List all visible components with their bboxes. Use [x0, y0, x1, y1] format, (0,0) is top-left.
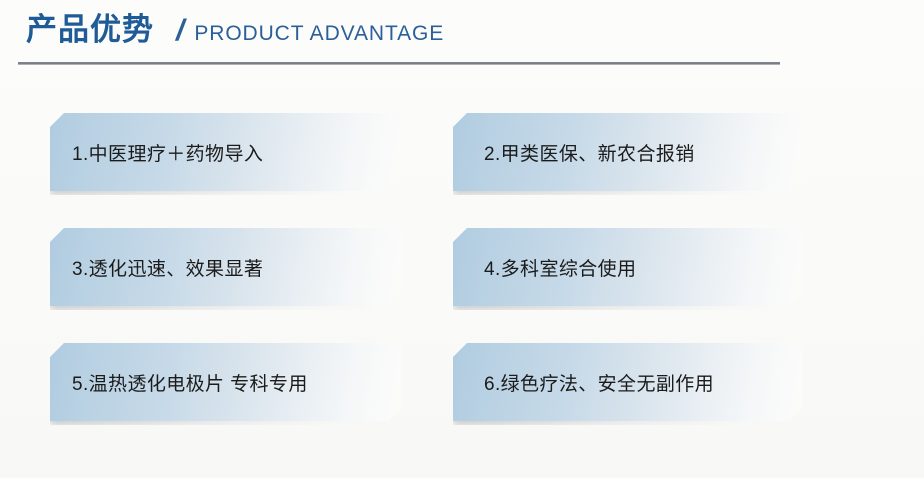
card-row: 3.透化迅速、效果显著 4.多科室综合使用: [0, 219, 924, 334]
advantage-card-4[interactable]: 4.多科室综合使用: [453, 228, 803, 306]
header-divider: [18, 62, 780, 65]
advantage-card-grid: 1.中医理疗＋药物导入 2.甲类医保、新农合报销 3.透化迅速、效果显著 4.多…: [0, 104, 924, 434]
page-title-cn: 产品优势: [26, 8, 154, 52]
advantage-card-1[interactable]: 1.中医理疗＋药物导入: [50, 113, 402, 191]
advantage-card-4-label: 4.多科室综合使用: [453, 254, 636, 281]
advantage-card-5-label: 5.温热透化电极片 专科专用: [50, 369, 308, 396]
header-title-line: 产品优势 / PRODUCT ADVANTAGE: [18, 8, 898, 58]
card-row: 5.温热透化电极片 专科专用 6.绿色疗法、安全无副作用: [0, 334, 924, 449]
advantage-card-3-label: 3.透化迅速、效果显著: [50, 254, 263, 281]
page-title-en: PRODUCT ADVANTAGE: [194, 12, 444, 56]
card-row: 1.中医理疗＋药物导入 2.甲类医保、新农合报销: [0, 104, 924, 219]
advantage-card-2[interactable]: 2.甲类医保、新农合报销: [453, 113, 803, 191]
title-separator-slash: /: [176, 9, 184, 53]
slide-root: 产品优势 / PRODUCT ADVANTAGE 1.中医理疗＋药物导入 2.甲…: [0, 0, 924, 478]
advantage-card-1-label: 1.中医理疗＋药物导入: [50, 139, 263, 166]
advantage-card-6[interactable]: 6.绿色疗法、安全无副作用: [453, 343, 803, 421]
slide-header: 产品优势 / PRODUCT ADVANTAGE: [18, 8, 898, 70]
advantage-card-2-label: 2.甲类医保、新农合报销: [453, 139, 695, 166]
advantage-card-5[interactable]: 5.温热透化电极片 专科专用: [50, 343, 402, 421]
advantage-card-6-label: 6.绿色疗法、安全无副作用: [453, 369, 714, 396]
advantage-card-3[interactable]: 3.透化迅速、效果显著: [50, 228, 402, 306]
